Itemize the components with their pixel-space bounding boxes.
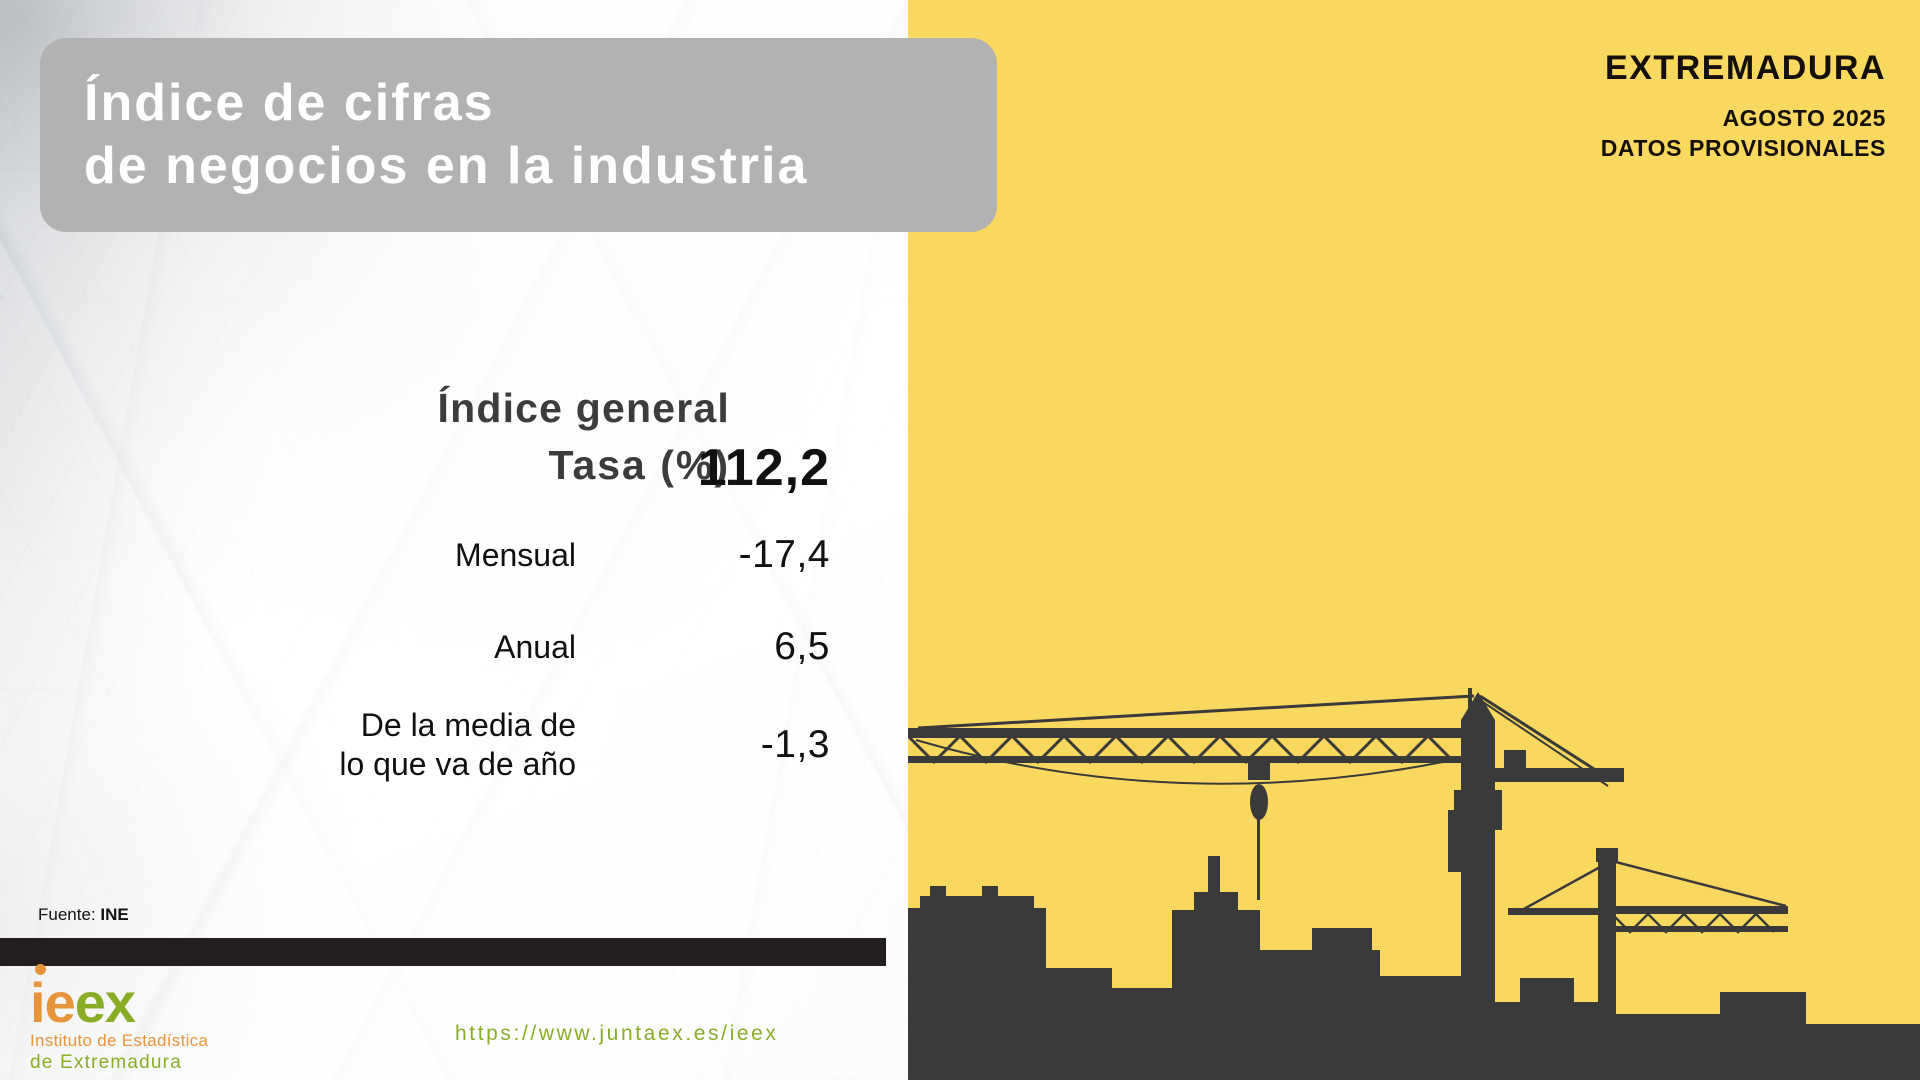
rate-heading: Tasa (%) xyxy=(0,443,730,488)
source-note: Fuente: INE xyxy=(38,905,129,925)
row-label-ytd-average-line2: lo que va de año xyxy=(20,745,576,783)
footer-divider-bar xyxy=(0,938,886,966)
row-label-annual: Anual xyxy=(20,628,576,667)
row-value-monthly: -17,4 xyxy=(576,533,852,577)
logo-letter-x: x xyxy=(105,971,135,1034)
logo-subtitle-line2: de Extremadura xyxy=(30,1052,208,1074)
table-row: Mensual -17,4 xyxy=(0,522,852,588)
rates-list: Mensual -17,4 Anual 6,5 De la media de l… xyxy=(0,522,852,783)
logo-letter-e2: e xyxy=(75,971,105,1034)
index-general-value: 112,2 xyxy=(698,438,830,498)
logo-dot-icon xyxy=(35,964,46,975)
row-value-annual: 6,5 xyxy=(576,625,852,669)
row-label-ytd-average-line1: De la media de xyxy=(20,706,576,744)
index-general-heading: Índice general xyxy=(0,386,730,431)
row-label-monthly: Mensual xyxy=(20,536,576,575)
construction-silhouette-icon xyxy=(908,610,1920,1080)
title-banner: Índice de cifras de negocios en la indus… xyxy=(40,38,997,232)
data-block: Índice general Tasa (%) 112,2 Mensual -1… xyxy=(0,386,852,783)
row-value-ytd-average: -1,3 xyxy=(576,723,852,767)
ieex-logo: ieex Instituto de Estadística de Extrema… xyxy=(30,977,208,1074)
logo-letter-i: i xyxy=(30,971,45,1034)
title-line-2: de negocios en la industria xyxy=(84,135,997,198)
title-line-1: Índice de cifras xyxy=(84,72,997,135)
table-row: Anual 6,5 xyxy=(0,614,852,680)
region-header: EXTREMADURA AGOSTO 2025 DATOS PROVISIONA… xyxy=(1601,48,1886,164)
row-label-ytd-average: De la media de lo que va de año xyxy=(20,706,576,783)
source-prefix: Fuente: xyxy=(38,905,100,924)
provisional-label: DATOS PROVISIONALES xyxy=(1601,133,1886,163)
table-row: De la media de lo que va de año -1,3 xyxy=(0,706,852,783)
website-url[interactable]: https://www.juntaex.es/ieex xyxy=(455,1022,779,1046)
ieex-wordmark: ieex xyxy=(30,977,208,1029)
infographic-poster: Índice de cifras de negocios en la indus… xyxy=(0,0,1920,1080)
period-label: AGOSTO 2025 xyxy=(1601,103,1886,133)
region-name: EXTREMADURA xyxy=(1601,48,1886,89)
source-value: INE xyxy=(100,905,128,924)
logo-letter-e1: e xyxy=(45,971,75,1034)
